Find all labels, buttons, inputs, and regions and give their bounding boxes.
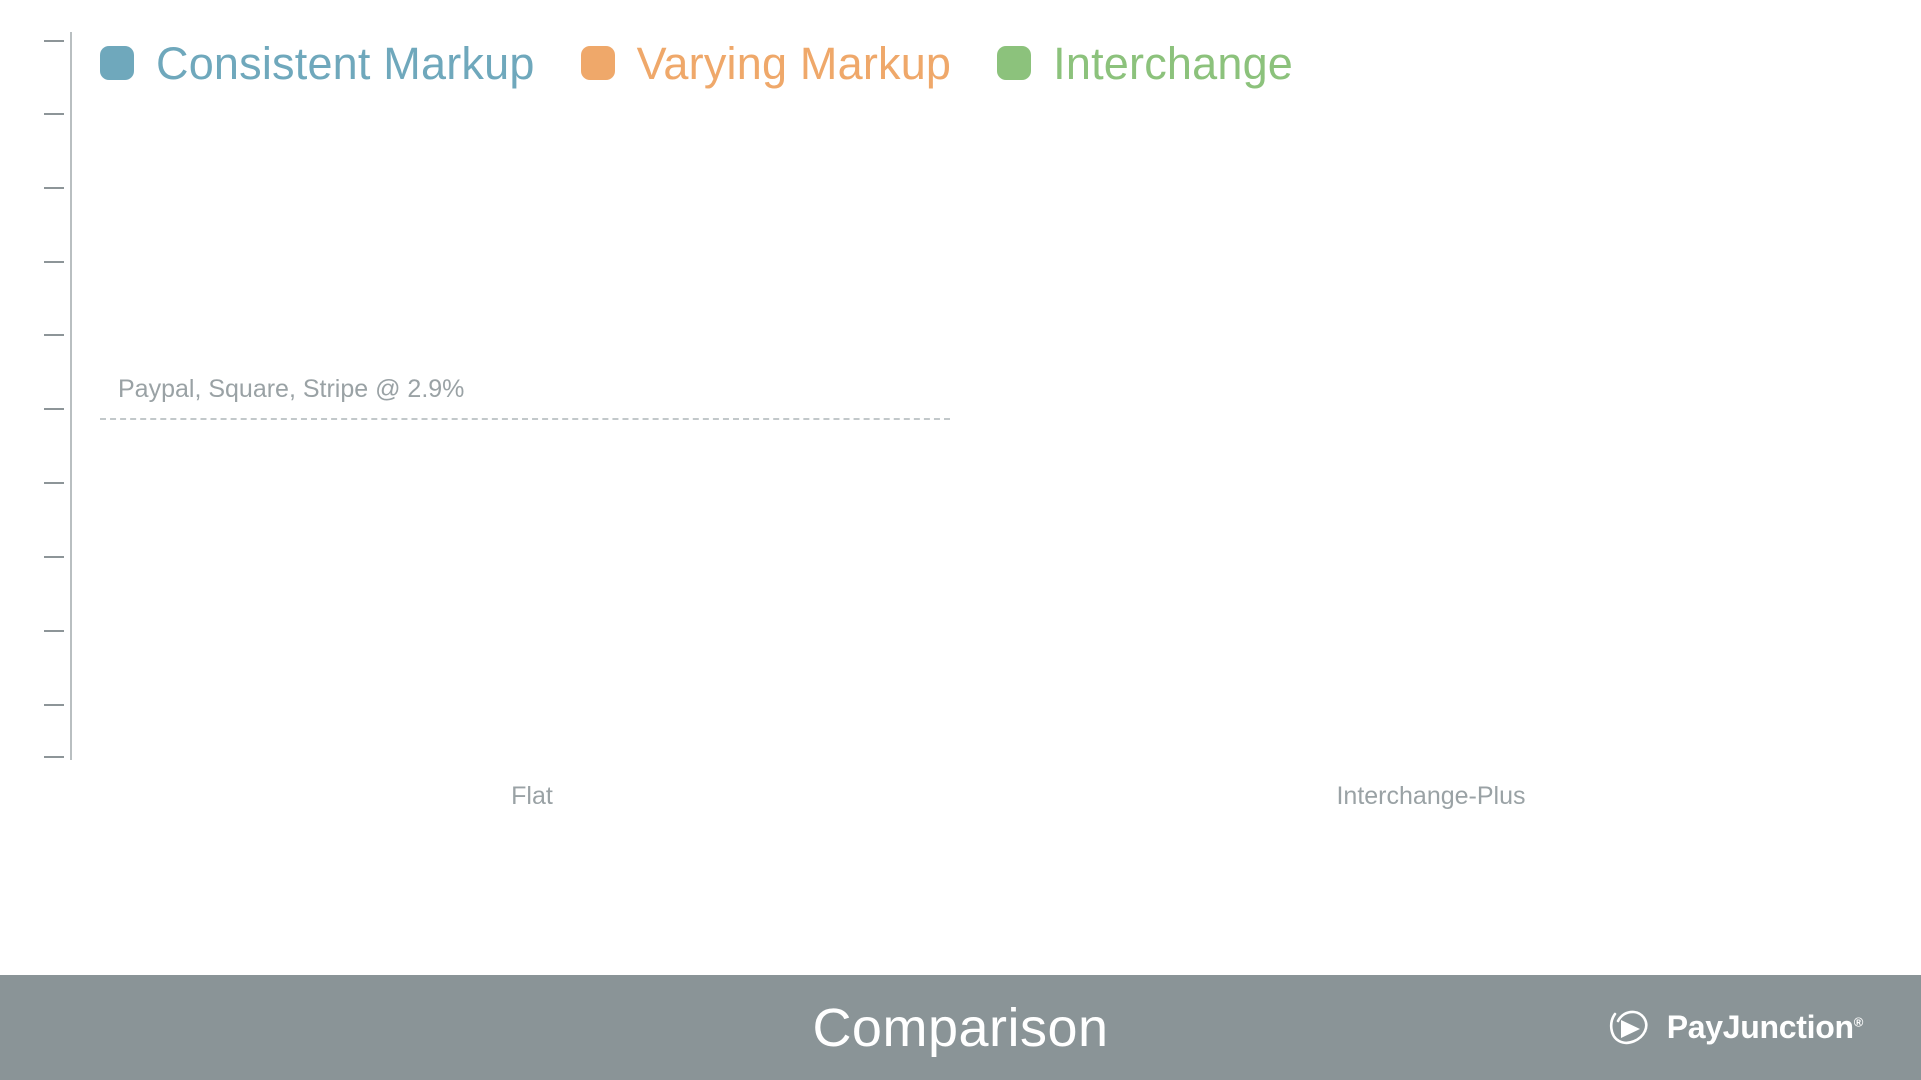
footer-bar: Comparison PayJunction® <box>0 975 1921 1080</box>
brand-name: PayJunction® <box>1667 1009 1863 1046</box>
category-label-1: Interchange-Plus <box>1000 782 1862 811</box>
category-label-0: Flat <box>118 782 946 811</box>
brand-text: PayJunction <box>1667 1009 1854 1045</box>
payjunction-logo: PayJunction® <box>1607 1008 1863 1048</box>
slide-canvas: Consistent MarkupVarying MarkupInterchan… <box>0 0 1921 1080</box>
benchmark-dashed-line <box>100 418 950 420</box>
registered-mark: ® <box>1854 1014 1863 1029</box>
payjunction-mark-icon <box>1607 1008 1653 1048</box>
benchmark-label: Paypal, Square, Stripe @ 2.9% <box>118 375 464 404</box>
page-title: Comparison <box>812 997 1108 1059</box>
